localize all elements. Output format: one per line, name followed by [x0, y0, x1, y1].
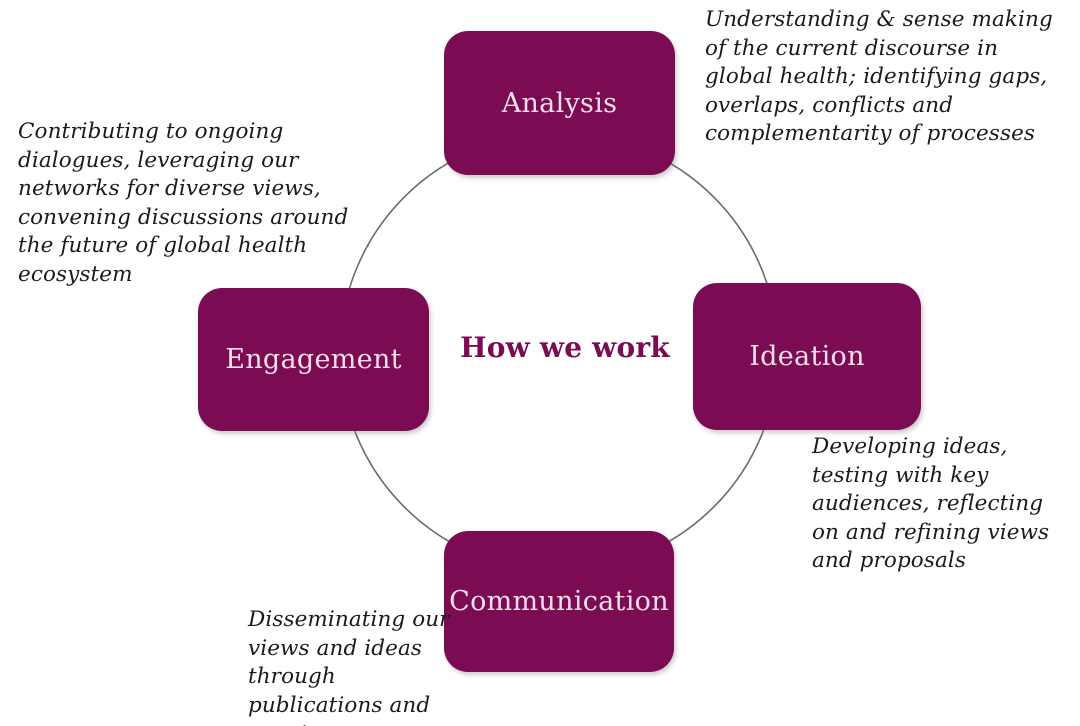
caption-analysis: Understanding & sense making of the curr… [705, 6, 1065, 149]
node-engagement-label: Engagement [225, 346, 402, 373]
how-we-work-diagram: Analysis Ideation Communication Engageme… [0, 0, 1080, 726]
node-communication-label: Communication [449, 588, 669, 615]
node-analysis[interactable]: Analysis [444, 31, 675, 175]
caption-engagement: Contributing to ongoing dialogues, lever… [18, 118, 358, 290]
node-communication[interactable]: Communication [444, 531, 674, 672]
caption-communication: Disseminating our views and ideas throug… [248, 606, 463, 726]
node-engagement[interactable]: Engagement [198, 288, 429, 431]
node-analysis-label: Analysis [502, 90, 618, 117]
node-ideation[interactable]: Ideation [693, 283, 921, 430]
node-ideation-label: Ideation [749, 343, 865, 370]
diagram-center-title: How we work [440, 333, 690, 364]
caption-ideation: Developing ideas, testing with key audie… [812, 433, 1070, 576]
